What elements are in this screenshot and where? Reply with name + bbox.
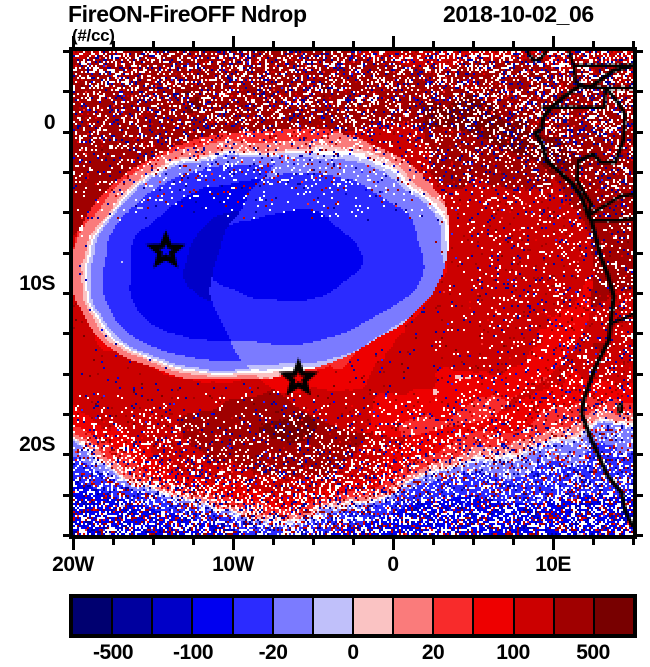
- y-tick-right: [635, 252, 643, 255]
- colorbar-cell-4[interactable]: [234, 598, 274, 634]
- y-axis-label: 0: [0, 111, 55, 135]
- y-tick: [63, 332, 71, 335]
- x-tick-top: [472, 41, 475, 49]
- x-tick: [592, 537, 595, 545]
- x-tick-top: [632, 41, 635, 49]
- y-tick-right: [635, 534, 643, 537]
- x-tick-top: [112, 41, 115, 49]
- y-axis-label: 20S: [0, 433, 55, 457]
- colorbar-cell-12[interactable]: [555, 598, 595, 634]
- x-tick-top: [232, 36, 235, 49]
- y-tick-right: [635, 50, 643, 53]
- x-tick-top: [312, 41, 315, 49]
- x-tick-top: [152, 41, 155, 49]
- y-tick: [63, 373, 71, 376]
- y-tick: [63, 211, 71, 214]
- y-tick-right: [635, 90, 643, 93]
- y-tick: [63, 494, 71, 497]
- colorbar-cell-5[interactable]: [274, 598, 314, 634]
- x-tick-top: [552, 36, 555, 49]
- colorbar-cell-9[interactable]: [434, 598, 474, 634]
- x-tick-top: [512, 41, 515, 49]
- figure-root: FireON-FireOFF Ndrop 2018-10-02_06 (#/cc…: [0, 0, 650, 667]
- x-tick: [512, 537, 515, 545]
- y-tick: [63, 50, 71, 53]
- x-tick-top: [192, 41, 195, 49]
- colorbar-label: 500: [543, 641, 643, 665]
- x-tick: [312, 537, 315, 545]
- x-tick-top: [592, 41, 595, 49]
- colorbar-cell-7[interactable]: [354, 598, 394, 634]
- x-axis-label: 20W: [28, 553, 118, 577]
- y-tick-right: [635, 131, 643, 134]
- x-tick: [72, 537, 75, 550]
- x-tick-top: [72, 36, 75, 49]
- x-tick-top: [432, 41, 435, 49]
- x-tick-top: [272, 41, 275, 49]
- timestamp-label: 2018-10-02_06: [443, 1, 594, 27]
- y-axis-label: 10S: [0, 272, 55, 296]
- x-tick: [192, 537, 195, 545]
- x-tick: [152, 537, 155, 545]
- y-tick: [63, 292, 71, 295]
- y-tick: [63, 453, 71, 456]
- x-axis-label: 0: [348, 553, 438, 577]
- y-tick: [63, 413, 71, 416]
- x-tick: [632, 537, 635, 545]
- page-title: FireON-FireOFF Ndrop: [68, 1, 307, 27]
- y-tick-right: [635, 413, 643, 416]
- units-label: (#/cc): [72, 26, 115, 46]
- y-tick: [63, 534, 71, 537]
- colorbar-cell-11[interactable]: [515, 598, 555, 634]
- colorbar-cell-3[interactable]: [193, 598, 233, 634]
- colorbar-cell-13[interactable]: [595, 598, 633, 634]
- y-tick-right: [635, 292, 643, 295]
- x-tick: [352, 537, 355, 545]
- colorbar-cell-8[interactable]: [394, 598, 434, 634]
- x-tick-top: [392, 36, 395, 49]
- colorbar[interactable]: [69, 594, 637, 638]
- colorbar-cell-2[interactable]: [153, 598, 193, 634]
- y-tick: [63, 252, 71, 255]
- map-plot-area: [73, 51, 633, 535]
- x-tick: [272, 537, 275, 545]
- x-tick: [472, 537, 475, 545]
- y-tick-right: [635, 171, 643, 174]
- y-tick-right: [635, 453, 643, 456]
- x-tick: [112, 537, 115, 545]
- y-tick: [63, 90, 71, 93]
- x-axis-label: 10W: [188, 553, 278, 577]
- y-tick-right: [635, 494, 643, 497]
- colorbar-cell-6[interactable]: [314, 598, 354, 634]
- colorbar-cell-1[interactable]: [113, 598, 153, 634]
- x-tick-top: [352, 41, 355, 49]
- x-tick: [552, 537, 555, 550]
- y-tick-right: [635, 211, 643, 214]
- colorbar-cell-0[interactable]: [73, 598, 113, 634]
- x-tick: [392, 537, 395, 550]
- y-tick-right: [635, 373, 643, 376]
- y-tick: [63, 131, 71, 134]
- x-axis-label: 10E: [508, 553, 598, 577]
- heatmap-field-canvas: [73, 51, 633, 535]
- x-tick: [432, 537, 435, 545]
- x-tick: [232, 537, 235, 550]
- y-tick-right: [635, 332, 643, 335]
- y-tick: [63, 171, 71, 174]
- colorbar-cell-10[interactable]: [474, 598, 514, 634]
